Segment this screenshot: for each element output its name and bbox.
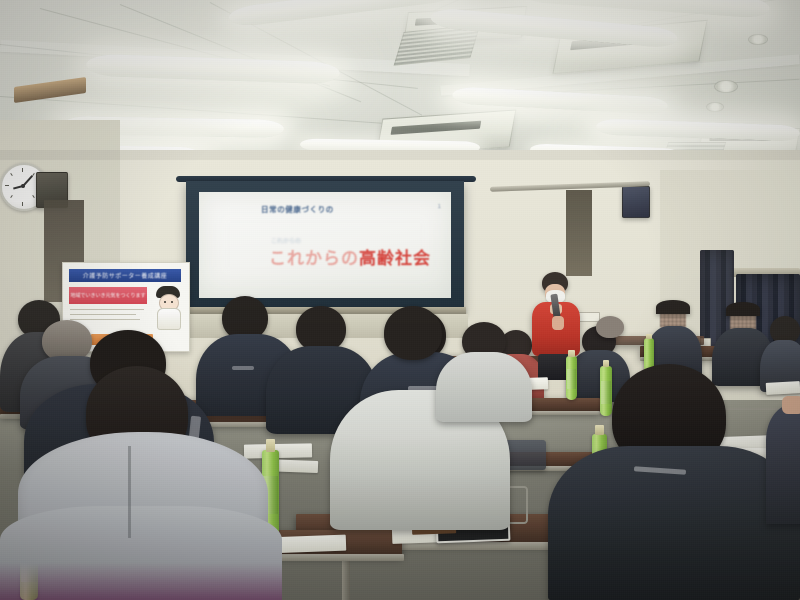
poster-mascot-icon [152,286,184,332]
green-tea-bottle [566,356,577,400]
projection-screen: 日常の健康づくりの 1 これからの これからの高齢社会 [199,192,451,298]
poster-header-band: 介護予防サポーター養成講座 [69,269,181,282]
slide-title: 日常の健康づくりの [261,204,334,215]
ceiling-smoke-detector [706,102,724,112]
ceiling-light-recessed [748,34,768,45]
green-tea-bottle [600,366,612,416]
slide-headline-main: 高齢社会 [359,249,431,268]
wall-notice [578,312,600,322]
poster-red-box-text: 地域でいきいき元気をつくります [70,292,145,299]
handout-papers [766,381,800,395]
poster-red-box: 地域でいきいき元気をつくります [69,287,147,304]
photo-scene: 日常の健康づくりの 1 これからの これからの高齢社会 介護予防サポーター養成講… [0,0,800,600]
wall-dark-panel [566,190,592,276]
fluorescent-light [596,118,800,141]
slide-headline: これからの高齢社会 [269,244,431,269]
wall-speaker [622,186,650,218]
fluorescent-light [520,0,771,19]
poster-band-text: 介護予防サポーター養成講座 [83,271,168,280]
ceiling-smoke-detector [714,80,738,93]
slide-headline-faint: これからの [269,249,359,268]
slide-page-number: 1 [438,204,441,210]
